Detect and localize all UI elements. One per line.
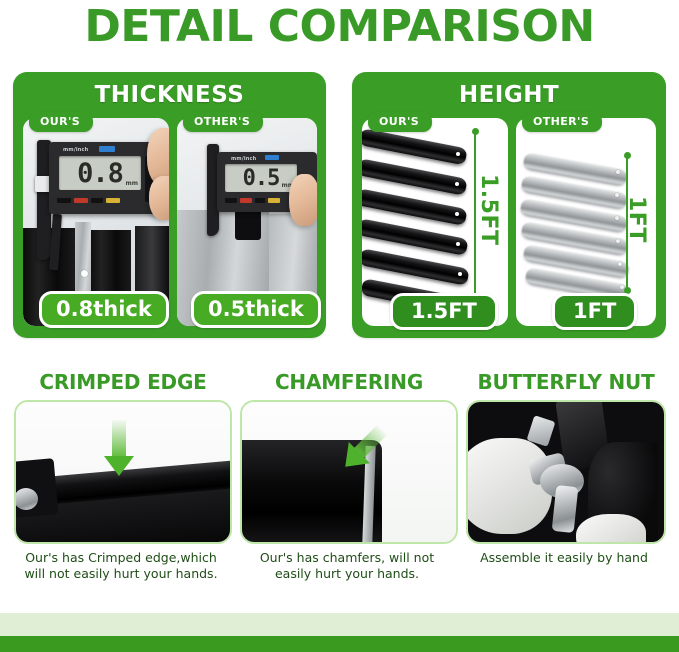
edging-hole: [456, 242, 460, 246]
badge-ours-height: OUR'S: [368, 112, 432, 132]
edging-hole: [456, 152, 460, 156]
comparison-panel-height: HEIGHT 1.5FT: [352, 72, 666, 338]
edging-hole: [615, 193, 619, 197]
hand-finger: [289, 174, 317, 226]
badge-theirs-height: OTHER'S: [522, 112, 602, 132]
dimension-label-theirs: 1FT: [624, 196, 649, 243]
page-title: DETAIL COMPARISON: [0, 2, 679, 52]
caliper-lcd-ours: 0.8 mm: [59, 156, 141, 190]
gloved-hand: [466, 438, 552, 534]
caliper-on-button[interactable]: [74, 198, 88, 203]
edging-hole: [616, 239, 620, 243]
edging-hole: [616, 170, 620, 174]
footer-green-bar: [0, 636, 679, 652]
caliper-brand-label: mm/inch: [231, 156, 256, 162]
panel-heading-height: HEIGHT: [352, 82, 666, 108]
caliper-off-button[interactable]: [225, 198, 237, 203]
gloved-hand: [576, 514, 646, 544]
caliper-reading-ours: 0.8: [77, 158, 123, 189]
butterfly-nut: [14, 488, 38, 510]
caliper-off-button[interactable]: [57, 198, 71, 203]
value-pill-theirs-height: 1FT: [552, 293, 637, 330]
feature-photo-chamfering: [240, 400, 458, 544]
value-pill-ours-height: 1.5FT: [390, 293, 498, 330]
value-pill-ours-thickness: 0.8thick: [39, 291, 169, 328]
caliper-on-button[interactable]: [240, 198, 252, 203]
caliper-zero-button[interactable]: [106, 198, 120, 203]
feature-photo-butterfly-nut: [466, 400, 666, 544]
feature-photo-crimped-edge: [14, 400, 232, 544]
edging-strip: [362, 188, 468, 226]
dimension-endpoint-icon: [472, 128, 479, 135]
edging-hole: [615, 216, 619, 220]
dimension-label-ours: 1.5FT: [476, 174, 501, 246]
feature-heading-chamfering: CHAMFERING: [240, 370, 458, 394]
caliper-mode-button[interactable]: [91, 198, 103, 203]
badge-ours-thickness: OUR'S: [29, 112, 93, 132]
caliper-lcd-theirs: 0.5 mm: [225, 164, 297, 192]
caliper-button-row-theirs: [225, 198, 280, 203]
value-pill-theirs-thickness: 0.5thick: [191, 291, 321, 328]
caliper-badge: [265, 155, 279, 160]
feature-caption-crimped-edge: Our's has Crimped edge,which will not ea…: [14, 550, 228, 582]
product-stack-ours: [362, 122, 476, 322]
caliper-unit-ours: mm: [125, 180, 138, 187]
product-hole: [81, 270, 88, 277]
dimension-endpoint-icon: [624, 152, 631, 159]
edging-strip: [362, 128, 468, 165]
edging-hole: [458, 272, 462, 276]
feature-caption-chamfering: Our's has chamfers, will not easily hurt…: [240, 550, 454, 582]
caliper-zero-button[interactable]: [268, 198, 280, 203]
caliper-badge: [99, 146, 115, 152]
edging-hole: [618, 262, 622, 266]
feature-heading-crimped-edge: CRIMPED EDGE: [14, 370, 232, 394]
panel-heading-thickness: THICKNESS: [13, 82, 326, 108]
product-stack-theirs: [520, 148, 640, 298]
comparison-panel-thickness: THICKNESS mm/inch 0.: [13, 72, 326, 338]
caliper-mode-button[interactable]: [255, 198, 265, 203]
hand-finger: [149, 176, 169, 220]
edging-hole: [455, 182, 459, 186]
feature-caption-butterfly-nut: Assemble it easily by hand: [466, 550, 662, 566]
feature-heading-butterfly-nut: BUTTERFLY NUT: [466, 370, 666, 394]
edging-strip: [362, 158, 468, 196]
footer-pale-band: [0, 613, 679, 636]
badge-theirs-thickness: OTHER'S: [183, 112, 263, 132]
edging-hole: [455, 212, 459, 216]
caliper-button-row-ours: [57, 198, 120, 203]
caliper-brand-label: mm/inch: [63, 147, 88, 153]
caliper-reading-theirs: 0.5: [243, 166, 280, 191]
